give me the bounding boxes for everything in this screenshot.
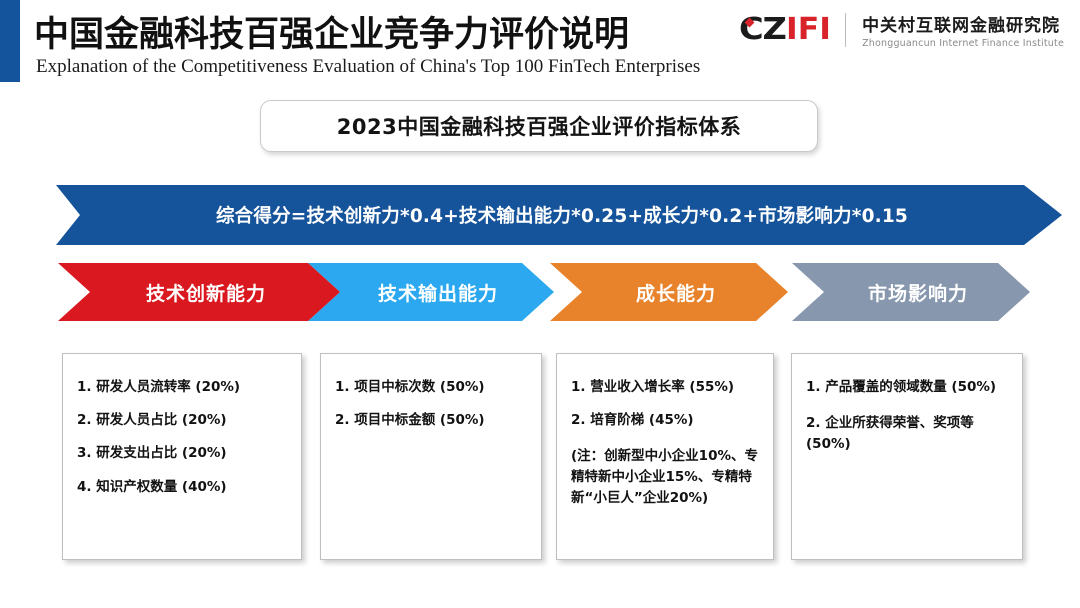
indicator-item: 1. 项目中标次数 (50%) <box>335 380 529 394</box>
formula-banner: 综合得分=技术创新力*0.4+技术输出能力*0.25+成长力*0.2+市场影响力… <box>56 185 1062 245</box>
chevron-growth: 成长能力 <box>550 263 788 321</box>
indicator-item: 1. 产品覆盖的领域数量 (50%) <box>806 380 1010 394</box>
chevron-label: 技术创新能力 <box>132 279 266 306</box>
logo-institute-name: 中关村互联网金融研究院 Zhongguancun Internet Financ… <box>862 11 1064 49</box>
diagram-title-text: 2023中国金融科技百强企业评价指标体系 <box>337 111 741 141</box>
logo-divider <box>845 13 846 47</box>
indicator-item: 2. 培育阶梯 (45%) <box>571 413 761 427</box>
indicator-item: 1. 营业收入增长率 (55%) <box>571 380 761 394</box>
chevron-label: 成长能力 <box>622 279 716 306</box>
chevron-technology-output: 技术输出能力 <box>308 263 554 321</box>
indicator-item: 4. 知识产权数量 (40%) <box>77 480 289 494</box>
header-accent-bar <box>0 0 20 82</box>
logo-wordmark: CZ IFI <box>739 15 829 45</box>
page-subtitle: Explanation of the Competitiveness Evalu… <box>36 56 700 78</box>
indicator-item: 1. 研发人员流转率 (20%) <box>77 380 289 394</box>
page-title: 中国金融科技百强企业竞争力评价说明 <box>34 6 629 57</box>
chevron-label: 市场影响力 <box>854 279 968 306</box>
indicator-item: 2. 企业所获得荣誉、奖项等 (50%) <box>806 413 1010 455</box>
page-header: 中国金融科技百强企业竞争力评价说明 Explanation of the Com… <box>0 0 1080 86</box>
capability-chevron-row: 技术创新能力 技术输出能力 成长能力 市场影响力 <box>58 263 1062 321</box>
logo-ifi-text: IFI <box>786 15 831 45</box>
indicator-item: 3. 研发支出占比 (20%) <box>77 446 289 460</box>
indicator-note: (注：创新型中小企业10%、专精特新中小企业15%、专精特新“小巨人”企业20%… <box>571 446 761 509</box>
chevron-label: 技术输出能力 <box>364 279 498 306</box>
indicator-item: 2. 项目中标金额 (50%) <box>335 413 529 427</box>
chevron-market-influence: 市场影响力 <box>792 263 1030 321</box>
chevron-technology-innovation: 技术创新能力 <box>58 263 340 321</box>
czifi-logo: CZ IFI 中关村互联网金融研究院 Zhongguancun Internet… <box>739 8 1064 52</box>
formula-text: 综合得分=技术创新力*0.4+技术输出能力*0.25+成长力*0.2+市场影响力… <box>210 202 908 228</box>
diagram-title-box: 2023中国金融科技百强企业评价指标体系 <box>260 100 818 152</box>
indicator-box-technology-innovation: 1. 研发人员流转率 (20%) 2. 研发人员占比 (20%) 3. 研发支出… <box>62 353 302 560</box>
indicator-box-technology-output: 1. 项目中标次数 (50%) 2. 项目中标金额 (50%) <box>320 353 542 560</box>
indicator-box-growth: 1. 营业收入增长率 (55%) 2. 培育阶梯 (45%) (注：创新型中小企… <box>556 353 774 560</box>
logo-name-cn: 中关村互联网金融研究院 <box>862 11 1064 36</box>
indicator-box-market-influence: 1. 产品覆盖的领域数量 (50%) 2. 企业所获得荣誉、奖项等 (50%) <box>791 353 1023 560</box>
indicator-item: 2. 研发人员占比 (20%) <box>77 413 289 427</box>
logo-name-en: Zhongguancun Internet Finance Institute <box>862 38 1064 49</box>
